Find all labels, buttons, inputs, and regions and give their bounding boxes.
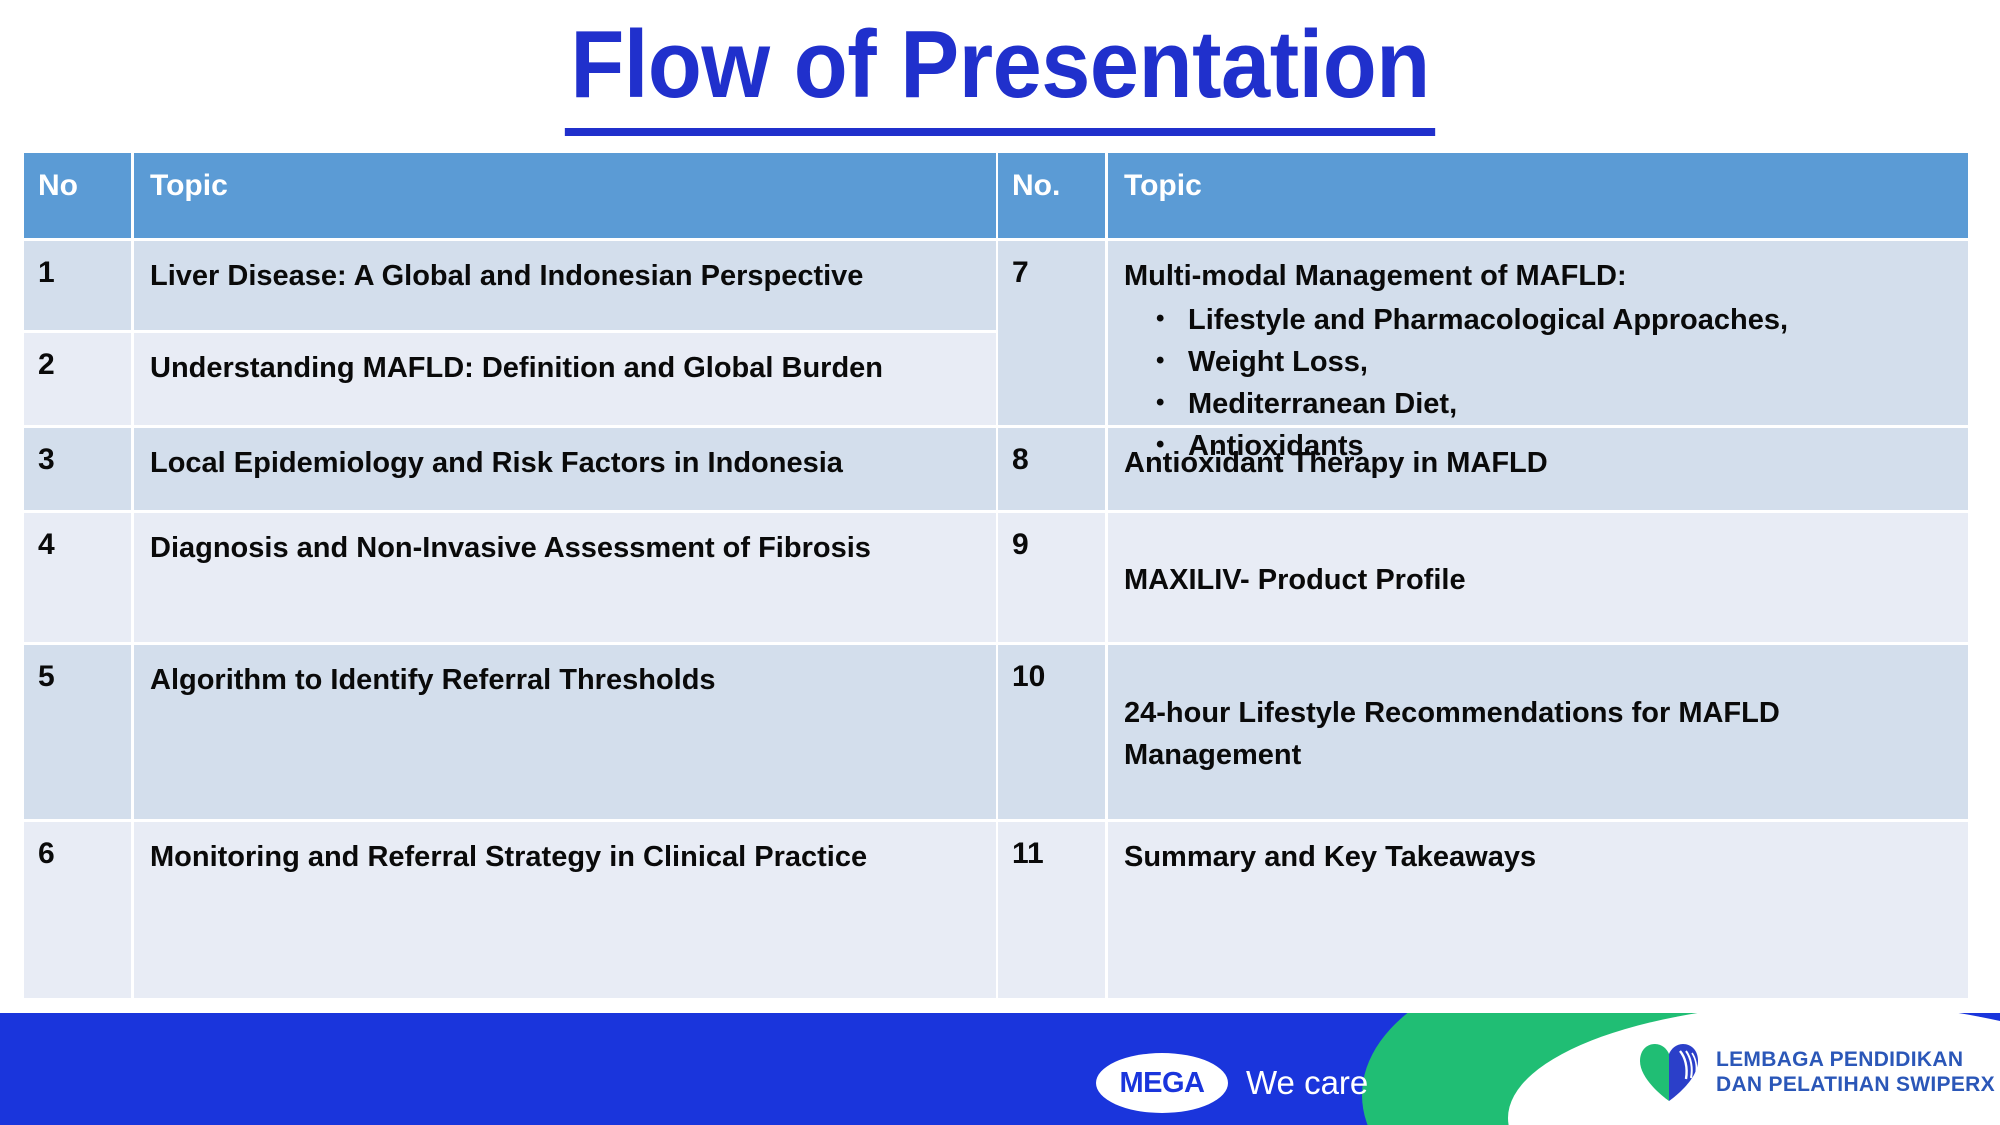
row-topic: 24-hour Lifestyle Recommendations for MA… <box>1124 659 1950 809</box>
bullet-item: Weight Loss, <box>1152 341 1950 383</box>
mega-wordmark: MEGA <box>1120 1067 1205 1100</box>
header-no-left: No <box>24 153 134 238</box>
row-topic: Understanding MAFLD: Definition and Glob… <box>134 333 996 425</box>
bullet-item: Lifestyle and Pharmacological Approaches… <box>1152 299 1950 341</box>
row-number: 9 <box>998 513 1108 642</box>
row-number: 6 <box>24 822 134 998</box>
row-number: 4 <box>24 513 134 642</box>
flow-tables: No Topic 1 Liver Disease: A Global and I… <box>24 153 1968 1008</box>
table-row[interactable]: 2 Understanding MAFLD: Definition and Gl… <box>24 333 996 428</box>
swiperx-line-1: LEMBAGA PENDIDIKAN <box>1716 1047 1995 1072</box>
row-number: 1 <box>24 241 134 330</box>
row-topic: Local Epidemiology and Risk Factors in I… <box>134 428 996 510</box>
row-number: 2 <box>24 333 134 425</box>
row-topic: Diagnosis and Non-Invasive Assessment of… <box>134 513 996 642</box>
title-container: Flow of Presentation <box>0 6 2000 136</box>
row-topic: Summary and Key Takeaways <box>1108 822 1968 998</box>
row-number: 5 <box>24 645 134 819</box>
row-number: 3 <box>24 428 134 510</box>
bullet-item: Mediterranean Diet, <box>1152 383 1950 425</box>
bullet-item: Antioxidants <box>1152 425 1950 467</box>
row-topic-cell: 24-hour Lifestyle Recommendations for MA… <box>1108 645 1968 819</box>
table-right: No. Topic 7 Multi-modal Management of MA… <box>998 153 1968 1008</box>
row-topic: Monitoring and Referral Strategy in Clin… <box>134 822 996 998</box>
table-right-header-row: No. Topic <box>998 153 1968 241</box>
header-no-right: No. <box>998 153 1108 238</box>
table-left: No Topic 1 Liver Disease: A Global and I… <box>24 153 996 1008</box>
swiperx-logo: LEMBAGA PENDIDIKAN DAN PELATIHAN SWIPERX <box>1636 1041 1995 1103</box>
bullet-list: Lifestyle and Pharmacological Approaches… <box>1124 299 1950 467</box>
header-topic-left: Topic <box>134 153 996 238</box>
slide-root: Flow of Presentation No Topic 1 Liver Di… <box>0 0 2000 1125</box>
table-left-header-row: No Topic <box>24 153 996 241</box>
row-topic: Algorithm to Identify Referral Threshold… <box>134 645 996 819</box>
table-row[interactable]: 1 Liver Disease: A Global and Indonesian… <box>24 241 996 333</box>
row-number: 7 <box>998 241 1108 425</box>
page-title: Flow of Presentation <box>565 6 1435 136</box>
table-row[interactable]: 5 Algorithm to Identify Referral Thresho… <box>24 645 996 822</box>
row-number: 8 <box>998 428 1108 510</box>
table-row[interactable]: 6 Monitoring and Referral Strategy in Cl… <box>24 822 996 998</box>
table-row[interactable]: 3 Local Epidemiology and Risk Factors in… <box>24 428 996 513</box>
table-row[interactable]: 10 24-hour Lifestyle Recommendations for… <box>998 645 1968 822</box>
swiperx-heart-book-icon <box>1636 1041 1702 1103</box>
table-row[interactable]: 7 Multi-modal Management of MAFLD: Lifes… <box>998 241 1968 428</box>
mega-ellipse-icon: MEGA <box>1096 1053 1228 1113</box>
footer-band: MEGA We care LEMBAGA PENDIDIKAN DAN PELA… <box>0 1013 2000 1125</box>
table-row[interactable]: 4 Diagnosis and Non-Invasive Assessment … <box>24 513 996 645</box>
row-topic: MAXILIV- Product Profile <box>1124 527 1950 632</box>
swiperx-line-2: DAN PELATIHAN SWIPERX <box>1716 1072 1995 1097</box>
swiperx-wordmark: LEMBAGA PENDIDIKAN DAN PELATIHAN SWIPERX <box>1716 1047 1995 1097</box>
row-number: 10 <box>998 645 1108 819</box>
row-topic: Multi-modal Management of MAFLD: <box>1124 255 1950 297</box>
table-row[interactable]: 9 MAXILIV- Product Profile <box>998 513 1968 645</box>
row-topic: Liver Disease: A Global and Indonesian P… <box>134 241 996 330</box>
table-row[interactable]: 11 Summary and Key Takeaways <box>998 822 1968 998</box>
row-number: 11 <box>998 822 1108 998</box>
mega-tagline: We care <box>1246 1064 1368 1102</box>
row-topic-with-bullets: Multi-modal Management of MAFLD: Lifesty… <box>1108 241 1968 425</box>
header-topic-right: Topic <box>1108 153 1968 238</box>
row-topic-cell: MAXILIV- Product Profile <box>1108 513 1968 642</box>
mega-logo: MEGA We care <box>1096 1053 1368 1113</box>
